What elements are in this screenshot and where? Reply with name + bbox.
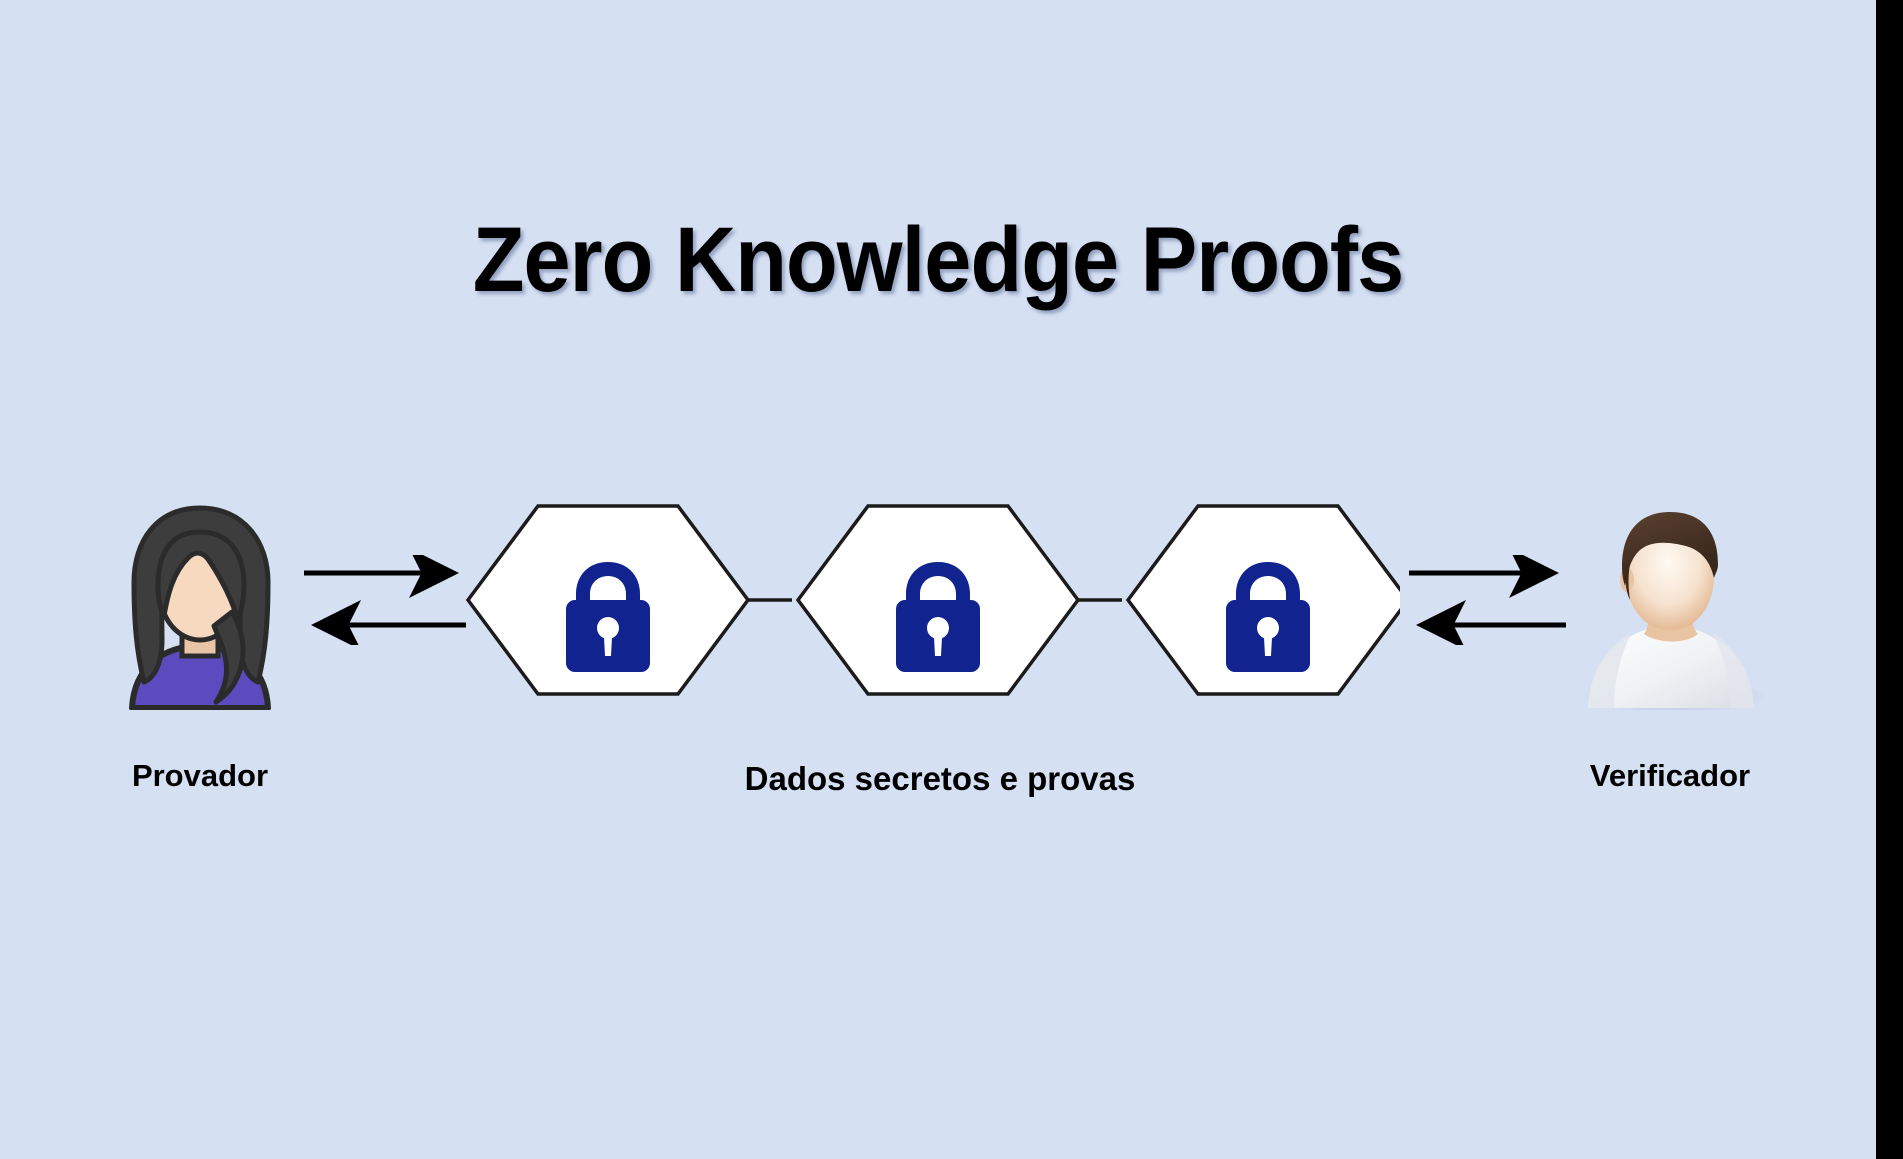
right-letterbox-bar bbox=[1876, 0, 1903, 1159]
page-title: Zero Knowledge Proofs bbox=[75, 212, 1801, 309]
slide-background: Zero Knowledge Proofs bbox=[0, 0, 1876, 1159]
hexagon-node-2 bbox=[798, 506, 1078, 694]
slide-canvas: Zero Knowledge Proofs bbox=[0, 0, 1903, 1159]
left-arrow-pair bbox=[300, 555, 470, 645]
hexagon-node-3 bbox=[1128, 506, 1400, 694]
hexagon-node-1 bbox=[468, 506, 748, 694]
zkp-diagram bbox=[0, 500, 1876, 740]
prover-label: Provador bbox=[0, 758, 400, 794]
male-user-avatar-icon bbox=[1570, 500, 1770, 710]
verifier-label: Verificador bbox=[1470, 758, 1870, 794]
female-user-avatar-icon bbox=[100, 500, 300, 710]
secret-data-label: Dados secretos e provas bbox=[540, 760, 1340, 798]
right-arrow-pair bbox=[1405, 555, 1570, 645]
hexagon-node-chain bbox=[460, 500, 1400, 700]
